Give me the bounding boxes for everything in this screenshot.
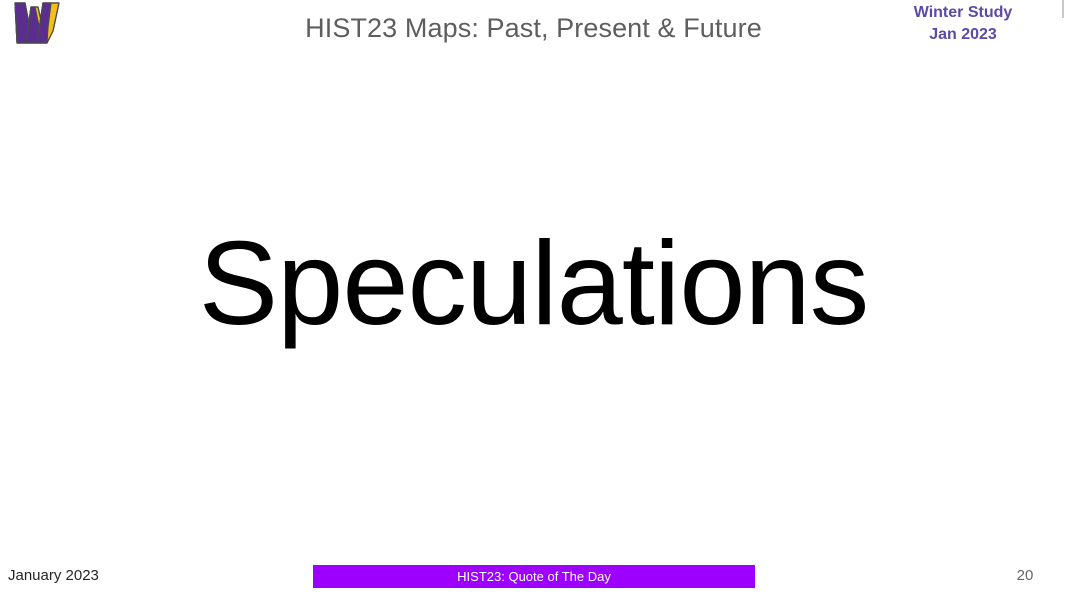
slide-canvas: HIST23 Maps: Past, Present & Future Wint… — [0, 0, 1067, 600]
course-meta: Winter Study Jan 2023 — [873, 2, 1053, 46]
footer-banner: HIST23: Quote of The Day — [313, 565, 755, 588]
footer-date: January 2023 — [8, 566, 99, 586]
slide-number: 20 — [1005, 566, 1045, 586]
slide-heading: Speculations — [0, 214, 1067, 354]
footer-banner-label: HIST23: Quote of The Day — [457, 569, 611, 584]
course-meta-line-2: Jan 2023 — [873, 24, 1053, 46]
course-meta-line-1: Winter Study — [873, 2, 1053, 24]
top-right-edge-marker — [1062, 0, 1064, 18]
